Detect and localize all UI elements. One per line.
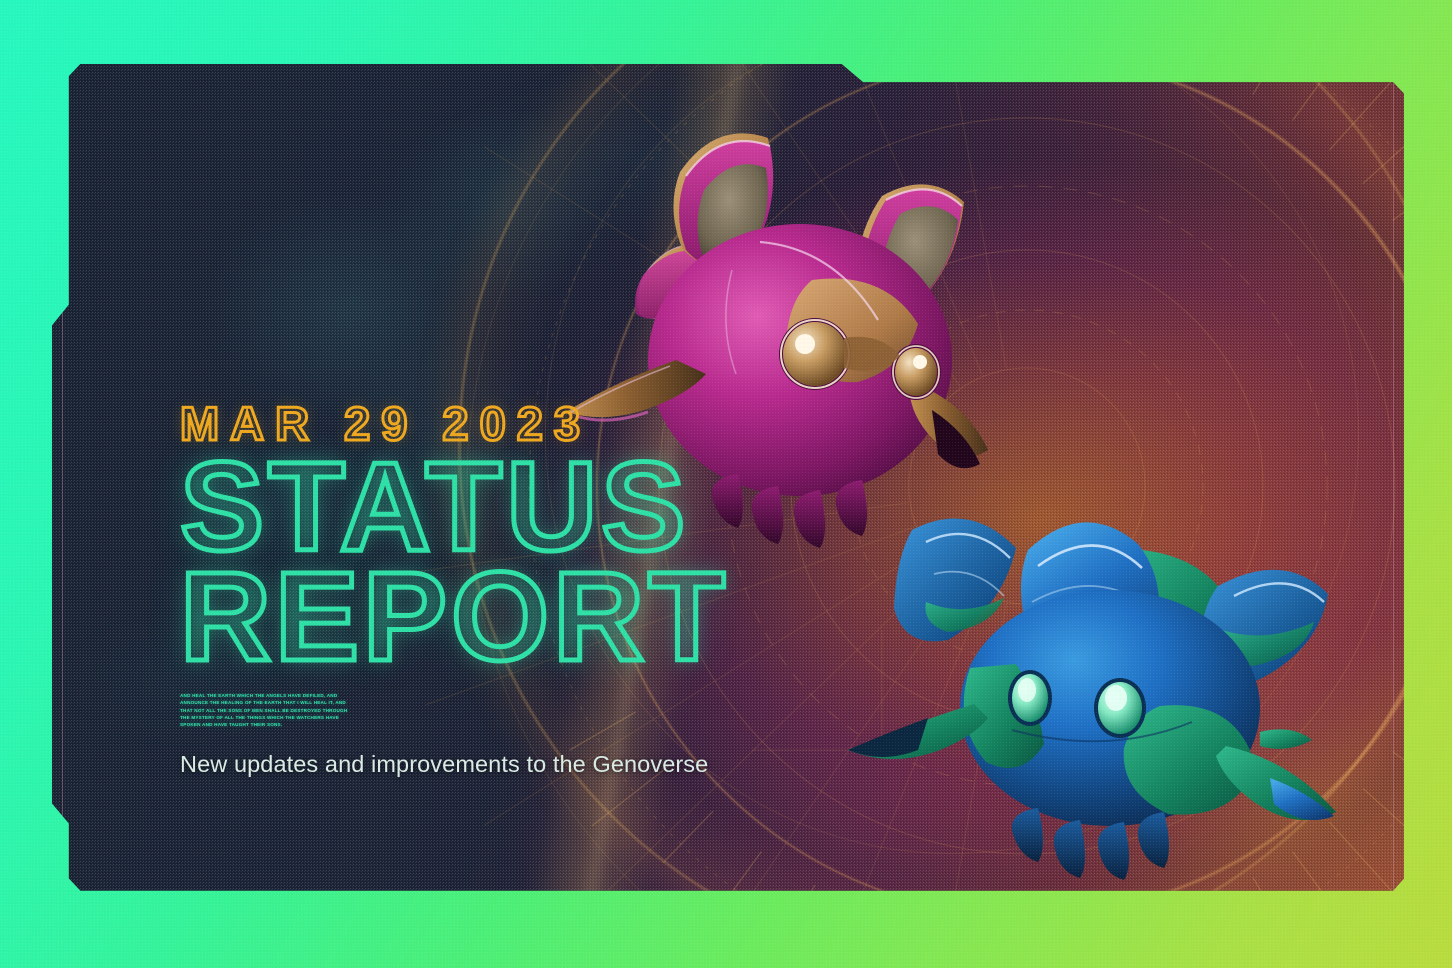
- page-title: STATUS REPORT: [180, 453, 940, 672]
- status-report-card: MAR 29 2023 STATUS REPORT AND HEAL THE E…: [52, 50, 1404, 922]
- poster-canvas: MAR 29 2023 STATUS REPORT AND HEAL THE E…: [0, 0, 1452, 968]
- subtitle: New updates and improvements to the Geno…: [180, 751, 940, 778]
- card-surface: MAR 29 2023 STATUS REPORT AND HEAL THE E…: [52, 50, 1404, 922]
- headline-line-2: REPORT: [180, 563, 940, 671]
- microcopy-paragraph: AND HEAL THE EARTH WHICH THE ANGELS HAVE…: [180, 692, 348, 729]
- text-block: MAR 29 2023 STATUS REPORT AND HEAL THE E…: [180, 400, 940, 778]
